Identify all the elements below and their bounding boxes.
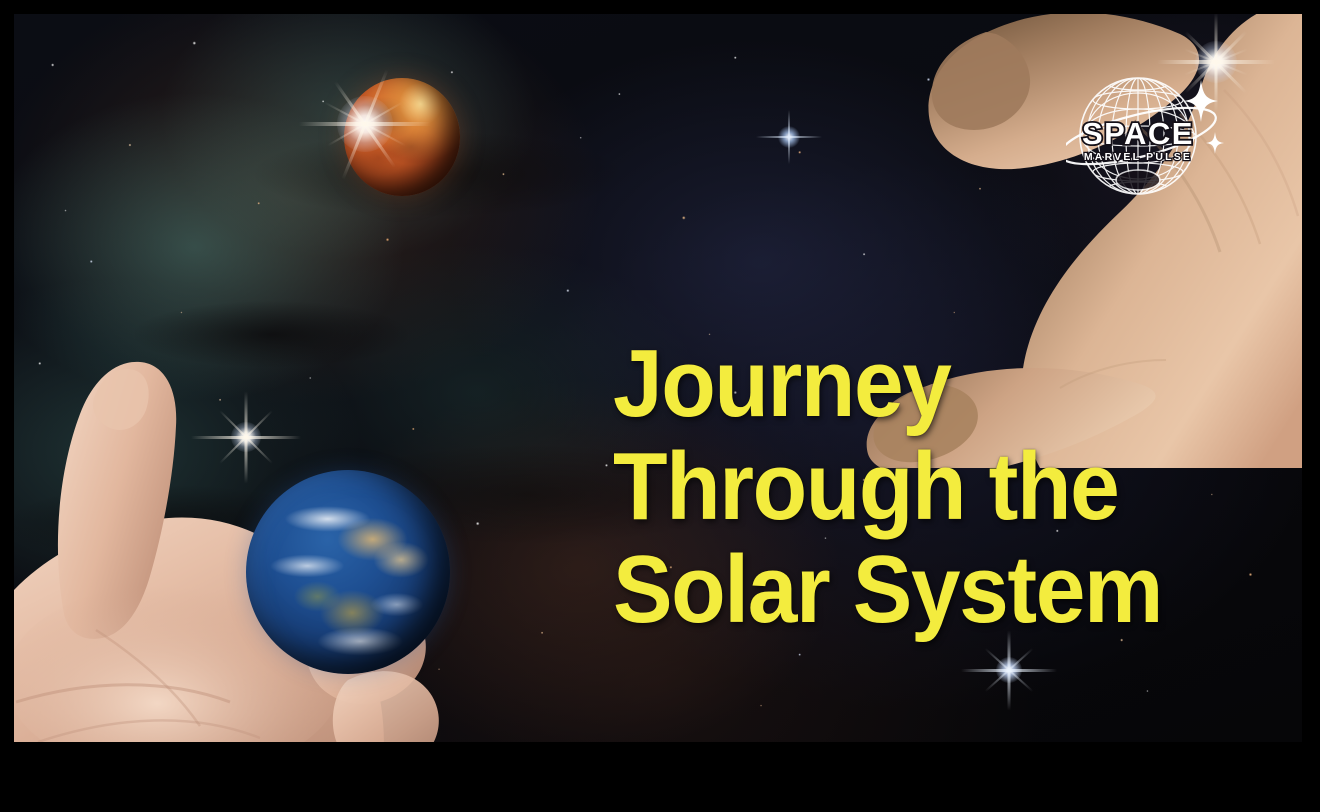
image-frame: Journey Through the Solar System: [14, 14, 1302, 742]
video-thumbnail: Journey Through the Solar System: [0, 0, 1320, 812]
title-line-2: Through the: [613, 441, 1227, 532]
earth-globe: [246, 470, 450, 674]
brand-wordmark: SPACE MARVEL PULSE: [1082, 116, 1194, 163]
title-block: Journey Through the Solar System: [613, 338, 1273, 636]
brand-name-text: SPACE: [1082, 116, 1194, 151]
title-line-1: Journey: [613, 338, 1227, 429]
brand-tagline-text: MARVEL PULSE: [1084, 151, 1192, 163]
brand-logo[interactable]: SPACE MARVEL PULSE: [1066, 62, 1222, 210]
title-line-3: Solar System: [613, 544, 1227, 635]
mars-planet: [344, 78, 460, 196]
